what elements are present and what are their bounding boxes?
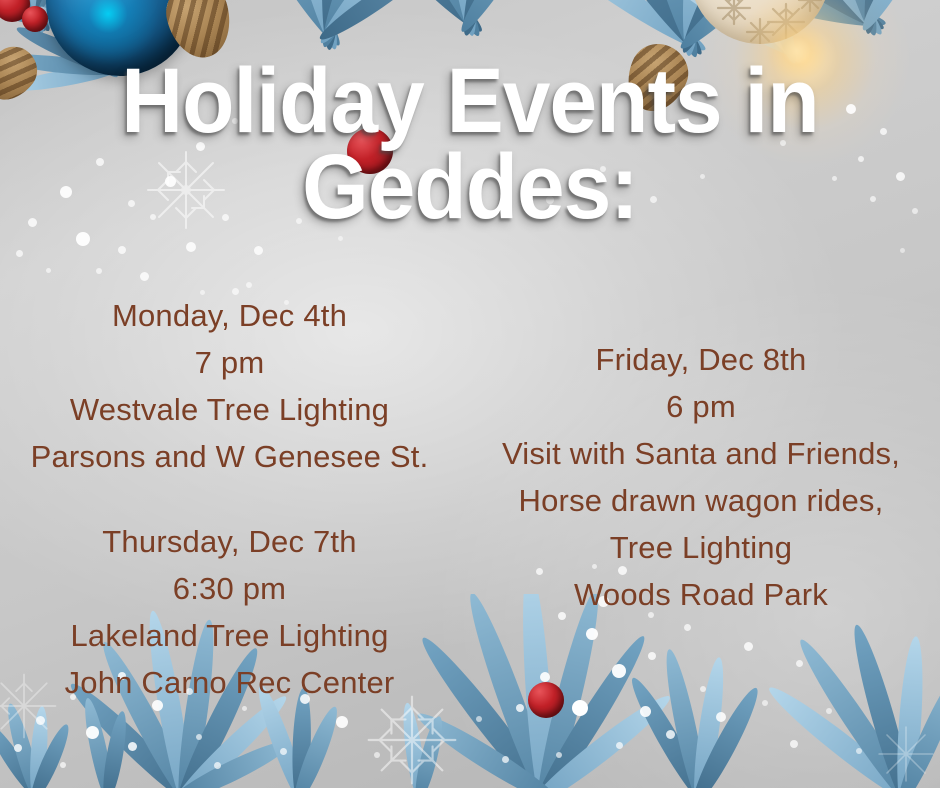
event-name: Lakeland Tree Lighting	[8, 612, 451, 659]
ornament-snowflake-pattern	[690, 0, 830, 44]
event-location: John Carno Rec Center	[8, 659, 451, 706]
events-column-left: Monday, Dec 4th 7 pm Westvale Tree Light…	[8, 292, 451, 744]
event-block-friday-dec-8: Friday, Dec 8th 6 pm Visit with Santa an…	[470, 336, 932, 618]
event-location: Parsons and W Genesee St.	[8, 433, 451, 480]
event-name: Westvale Tree Lighting	[8, 386, 451, 433]
event-date: Thursday, Dec 7th	[8, 518, 451, 565]
event-time: 6:30 pm	[8, 565, 451, 612]
event-date: Friday, Dec 8th	[470, 336, 932, 383]
snowflake-icon	[868, 716, 940, 788]
cream-snowflake-ornament-icon	[690, 0, 830, 44]
event-time: 6 pm	[470, 383, 932, 430]
event-date: Monday, Dec 4th	[8, 292, 451, 339]
event-time: 7 pm	[8, 339, 451, 386]
events-column-right: Friday, Dec 8th 6 pm Visit with Santa an…	[470, 336, 932, 618]
event-activity: Visit with Santa and Friends,	[470, 430, 932, 477]
event-block-thursday-dec-7: Thursday, Dec 7th 6:30 pm Lakeland Tree …	[8, 518, 451, 706]
event-location: Woods Road Park	[470, 571, 932, 618]
red-berry-icon	[0, 0, 30, 22]
event-block-monday-dec-4: Monday, Dec 4th 7 pm Westvale Tree Light…	[8, 292, 451, 480]
holiday-events-poster: Holiday Events in Geddes: Monday, Dec 4t…	[0, 0, 940, 788]
poster-title: Holiday Events in Geddes:	[0, 58, 940, 230]
event-activity: Horse drawn wagon rides,	[470, 477, 932, 524]
event-activity: Tree Lighting	[470, 524, 932, 571]
title-line-1: Holiday Events in	[33, 58, 907, 144]
red-berry-icon	[528, 682, 564, 718]
title-line-2: Geddes:	[33, 144, 907, 230]
red-berry-icon	[22, 6, 48, 32]
